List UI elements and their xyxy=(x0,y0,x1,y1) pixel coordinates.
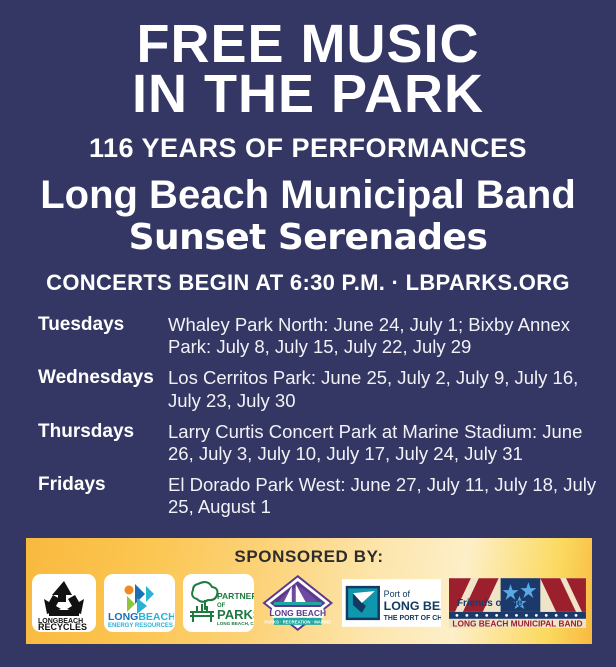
sponsor-band: SPONSORED BY: LONGBEACH RECYCLES xyxy=(26,538,592,644)
schedule-day-label: Tuesdays xyxy=(20,314,168,336)
headline-line-1: FREE MUSIC xyxy=(0,0,616,70)
poster-root: FREE MUSIC IN THE PARK 116 YEARS OF PERF… xyxy=(0,0,616,667)
sponsor-text-line2: LONG BEACH xyxy=(383,599,441,613)
sponsor-text-line1: LONG BEACH xyxy=(270,608,327,618)
schedule-day-label: Wednesdays xyxy=(20,367,168,389)
series-name: Sunset Serenades xyxy=(0,218,616,258)
arrows-icon: LONGBEACH ENERGY RESOURCES xyxy=(104,576,174,630)
years-of-performances: 116 YEARS OF PERFORMANCES xyxy=(0,133,616,164)
schedule-row: Wednesdays Los Cerritos Park: June 25, J… xyxy=(20,367,598,411)
sponsor-text-line2: LONG BEACH MUNICIPAL BAND xyxy=(452,618,582,628)
sponsor-text-line4: LONG BEACH, CA xyxy=(217,621,254,626)
sponsored-by-heading: SPONSORED BY: xyxy=(26,538,592,567)
schedule-detail: Whaley Park North: June 24, July 1; Bixb… xyxy=(168,314,598,358)
sponsor-logo-long-beach-recycles[interactable]: LONGBEACH RECYCLES xyxy=(32,574,96,632)
sponsor-logo-port-of-long-beach[interactable]: Port of LONG BEACH THE PORT OF CHOICE xyxy=(342,574,441,632)
sponsor-logo-list: LONGBEACH RECYCLES LONGBEACH ENERGY RESO xyxy=(26,574,592,632)
sponsor-text-line2: BEACH xyxy=(139,611,175,623)
band-name: Long Beach Municipal Band xyxy=(0,174,616,216)
sponsor-logo-friends-of-the-long-beach-municipal-band[interactable]: Friends of the LONG BEACH MUNICIPAL BAND xyxy=(449,578,586,628)
schedule-detail: Los Cerritos Park: June 25, July 2, July… xyxy=(168,367,598,411)
headline-line-2: IN THE PARK xyxy=(0,70,616,120)
schedule-row: Thursdays Larry Curtis Concert Park at M… xyxy=(20,421,598,465)
sponsor-text-line1: Port of xyxy=(383,589,410,599)
sponsor-text-line2: PARKS · RECREATION · MARINE xyxy=(265,619,332,624)
sponsor-text-line3: THE PORT OF CHOICE xyxy=(383,615,441,622)
sponsor-text-line1: PARTNERS xyxy=(217,591,254,601)
stars-stripes-icon: Friends of the LONG BEACH MUNICIPAL BAND xyxy=(449,578,586,628)
schedule-detail: El Dorado Park West: June 27, July 11, J… xyxy=(168,474,598,518)
recycling-icon: LONGBEACH RECYCLES xyxy=(34,576,94,630)
svg-text:LONGBEACH: LONGBEACH xyxy=(108,611,174,623)
concert-time-and-website: CONCERTS BEGIN AT 6:30 P.M. · LBPARKS.OR… xyxy=(0,270,616,296)
sponsor-logo-long-beach-energy-resources[interactable]: LONGBEACH ENERGY RESOURCES xyxy=(104,574,175,632)
sponsor-logo-long-beach-parks-recreation-marine[interactable]: LONG BEACH PARKS · RECREATION · MARINE xyxy=(262,574,333,632)
sponsor-text-line1: LONG xyxy=(108,611,138,623)
sponsor-text-line3: PARKS xyxy=(217,607,254,622)
schedule-day-label: Fridays xyxy=(20,474,168,496)
tree-bench-icon: PARTNERS OF PARKS LONG BEACH, CA xyxy=(184,576,254,630)
sailboat-diamond-icon: LONG BEACH PARKS · RECREATION · MARINE xyxy=(262,574,333,632)
schedule-row: Fridays El Dorado Park West: June 27, Ju… xyxy=(20,474,598,518)
sponsor-text-line1: Friends of the xyxy=(457,598,523,609)
sponsor-text-line3: ENERGY RESOURCES xyxy=(108,623,173,629)
schedule-row: Tuesdays Whaley Park North: June 24, Jul… xyxy=(20,314,598,358)
schedule-list: Tuesdays Whaley Park North: June 24, Jul… xyxy=(0,314,616,519)
schedule-detail: Larry Curtis Concert Park at Marine Stad… xyxy=(168,421,598,465)
schedule-day-label: Thursdays xyxy=(20,421,168,443)
sponsor-text-line3: RECYCLES xyxy=(38,622,87,630)
checkmark-square-icon: Port of LONG BEACH THE PORT OF CHOICE xyxy=(342,579,441,627)
sponsor-logo-partners-of-parks[interactable]: PARTNERS OF PARKS LONG BEACH, CA xyxy=(183,574,254,632)
